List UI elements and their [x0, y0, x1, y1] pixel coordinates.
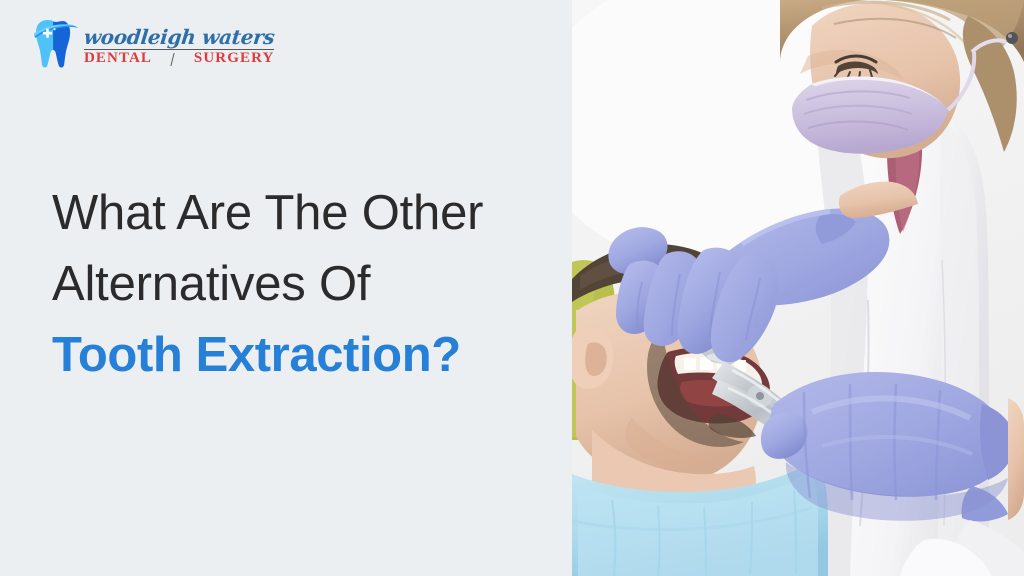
- brand-word-separator: [171, 53, 175, 66]
- brand-wordmark: woodleigh waters DENTAL SURGERY: [84, 23, 274, 67]
- headline-line-2: Alternatives Of: [52, 249, 552, 320]
- headline-line-1: What Are The Other: [52, 178, 552, 249]
- brand-logo[interactable]: woodleigh waters DENTAL SURGERY: [32, 16, 274, 74]
- tooth-icon: [32, 16, 80, 74]
- brand-word-surgery: SURGERY: [194, 51, 275, 67]
- left-content-panel: woodleigh waters DENTAL SURGERY What Are…: [0, 0, 572, 576]
- headline-line-3-accent: Tooth Extraction?: [52, 320, 552, 391]
- page-title: What Are The Other Alternatives Of Tooth…: [52, 178, 552, 391]
- brand-subtitle: DENTAL SURGERY: [84, 51, 274, 67]
- blog-banner: woodleigh waters DENTAL SURGERY What Are…: [0, 0, 1024, 576]
- dental-procedure-photo: [572, 0, 1024, 576]
- brand-word-dental: DENTAL: [84, 51, 152, 67]
- brand-script-text: woodleigh waters: [83, 27, 276, 47]
